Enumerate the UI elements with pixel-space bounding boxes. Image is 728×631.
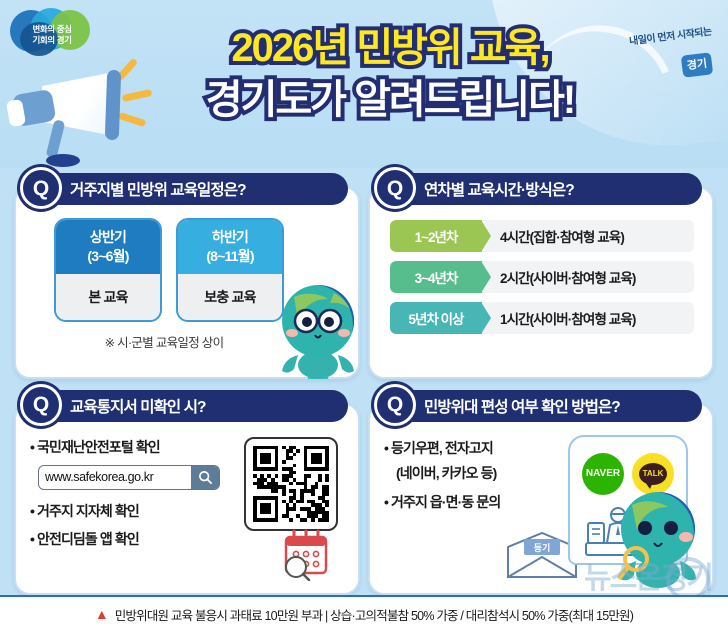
card-2-title: 연차별 교육시간·방식은? <box>424 178 574 200</box>
card-2-header: 연차별 교육시간·방식은? <box>384 173 702 205</box>
year-tier-tag: 5년차 이상 <box>390 302 482 334</box>
year-tier-tag: 3~4년차 <box>390 261 482 293</box>
search-icon <box>198 470 213 485</box>
qr-code-icon <box>244 437 338 531</box>
slogan-badge-label: 경기 <box>681 52 713 77</box>
list-item: • 거주지 지자체 확인 <box>30 501 212 521</box>
question-badge-icon: Q <box>374 167 416 209</box>
list-item: • 거주지 읍·면·동 문의 <box>384 491 554 513</box>
card-1-title: 거주지별 민방위 교육일정은? <box>70 178 246 200</box>
year-tier-2-label: 3~4년차 <box>415 267 458 287</box>
url-field[interactable]: www.safekorea.go.kr <box>38 465 220 490</box>
mascot-character-icon <box>272 277 364 381</box>
envelope-label: 등기 <box>534 542 551 553</box>
term-2-type: 보충 교육 <box>178 274 282 320</box>
hero-banner: 변화의 중심 기회의 경기 2026년 민방위 교육, 경기도가 알려드립니다!… <box>0 0 728 168</box>
table-row: 5년차 이상 1시간(사이버·참여형 교육) <box>390 302 694 334</box>
card-3-header: 교육통지서 미확인 시? <box>30 390 348 422</box>
list-item-sub: (네이버, 카카오 등) <box>384 463 554 483</box>
term-box-first-half: 상반기 (3~6월) 본 교육 <box>54 218 162 322</box>
warning-triangle-icon: ▲ <box>95 607 109 621</box>
card-membership-check: 민방위대 편성 여부 확인 방법은? Q • 등기우편, 전자고지 (네이버, … <box>368 387 714 596</box>
logo-line-1: 변화의 중심 <box>14 24 90 35</box>
card-notice-check: 교육통지서 미확인 시? Q • 국민재난안전포털 확인 www.safekor… <box>14 387 360 596</box>
card-4-title: 민방위대 편성 여부 확인 방법은? <box>424 395 620 417</box>
year-tier-3-desc: 1시간(사이버·참여형 교육) <box>482 302 694 334</box>
table-row: 3~4년차 2시간(사이버·참여형 교육) <box>390 261 694 293</box>
list-item: • 등기우편, 전자고지 <box>384 437 554 459</box>
list-item: • 국민재난안전포털 확인 <box>30 437 212 457</box>
year-tier-tag: 1~2년차 <box>390 220 482 252</box>
term-2-label: 하반기 <box>180 228 280 247</box>
naver-label: NAVER <box>586 468 620 479</box>
calendar-search-icon <box>278 529 334 581</box>
gyeonggi-logo-icon: 변화의 중심 기회의 경기 <box>8 8 94 60</box>
card-4-header: 민방위대 편성 여부 확인 방법은? <box>384 390 702 422</box>
year-tier-list: 1~2년차 4시간(집합·참여형 교육) 3~4년차 2시간(사이버·참여형 교… <box>384 218 698 334</box>
list-item: • 안전디딤돌 앱 확인 <box>30 529 212 549</box>
card-1-header: 거주지별 민방위 교육일정은? <box>30 173 348 205</box>
title-line-1: 2026년 민방위 교육, <box>140 22 640 74</box>
question-badge-icon: Q <box>20 167 62 209</box>
megaphone-icon <box>6 58 156 166</box>
year-tier-1-desc: 4시간(집합·참여형 교육) <box>482 220 694 252</box>
year-tier-1-label: 1~2년차 <box>415 226 458 246</box>
q-letter: Q <box>387 178 403 199</box>
year-tier-2-desc: 2시간(사이버·참여형 교육) <box>482 261 694 293</box>
title-line-2: 경기도가 알려드립니다! <box>140 74 640 126</box>
talk-label: TALK <box>643 469 664 478</box>
table-row: 1~2년차 4시간(집합·참여형 교육) <box>390 220 694 252</box>
mascot-character-icon <box>610 485 706 589</box>
slogan-text: 내일이 먼저 시작되는 <box>604 25 713 51</box>
card-grid: 거주지별 민방위 교육일정은? Q 상반기 (3~6월) 본 교육 <box>0 170 728 595</box>
term-2-period: (8~11월) <box>180 247 280 266</box>
question-badge-icon: Q <box>20 384 62 426</box>
slogan-badge: 내일이 먼저 시작되는 경기 <box>602 24 714 78</box>
footer-warning-bar: ▲ 민방위대원 교육 불응시 과태료 10만원 부과 | 상습·고의적불참 50… <box>0 595 728 631</box>
logo-line-2: 기회의 경기 <box>14 35 90 46</box>
term-1-type: 본 교육 <box>56 274 160 320</box>
year-tier-3-label: 5년차 이상 <box>409 308 464 328</box>
page-title: 2026년 민방위 교육, 경기도가 알려드립니다! <box>140 22 640 126</box>
q-letter: Q <box>387 394 403 415</box>
card-3-title: 교육통지서 미확인 시? <box>70 395 206 417</box>
card-residence-schedule: 거주지별 민방위 교육일정은? Q 상반기 (3~6월) 본 교육 <box>14 170 360 379</box>
card-training-hours: 연차별 교육시간·방식은? Q 1~2년차 4시간(집합·참여형 교육) 3~4… <box>368 170 714 379</box>
term-1-label: 상반기 <box>58 228 158 247</box>
question-badge-icon: Q <box>374 384 416 426</box>
q-letter: Q <box>33 394 49 415</box>
url-input[interactable]: www.safekorea.go.kr <box>39 466 191 489</box>
term-1-period: (3~6월) <box>58 247 158 266</box>
footer-text: 민방위대원 교육 불응시 과태료 10만원 부과 | 상습·고의적불참 50% … <box>115 605 633 624</box>
term-box-second-half: 하반기 (8~11월) 보충 교육 <box>176 218 284 322</box>
q-letter: Q <box>33 178 49 199</box>
